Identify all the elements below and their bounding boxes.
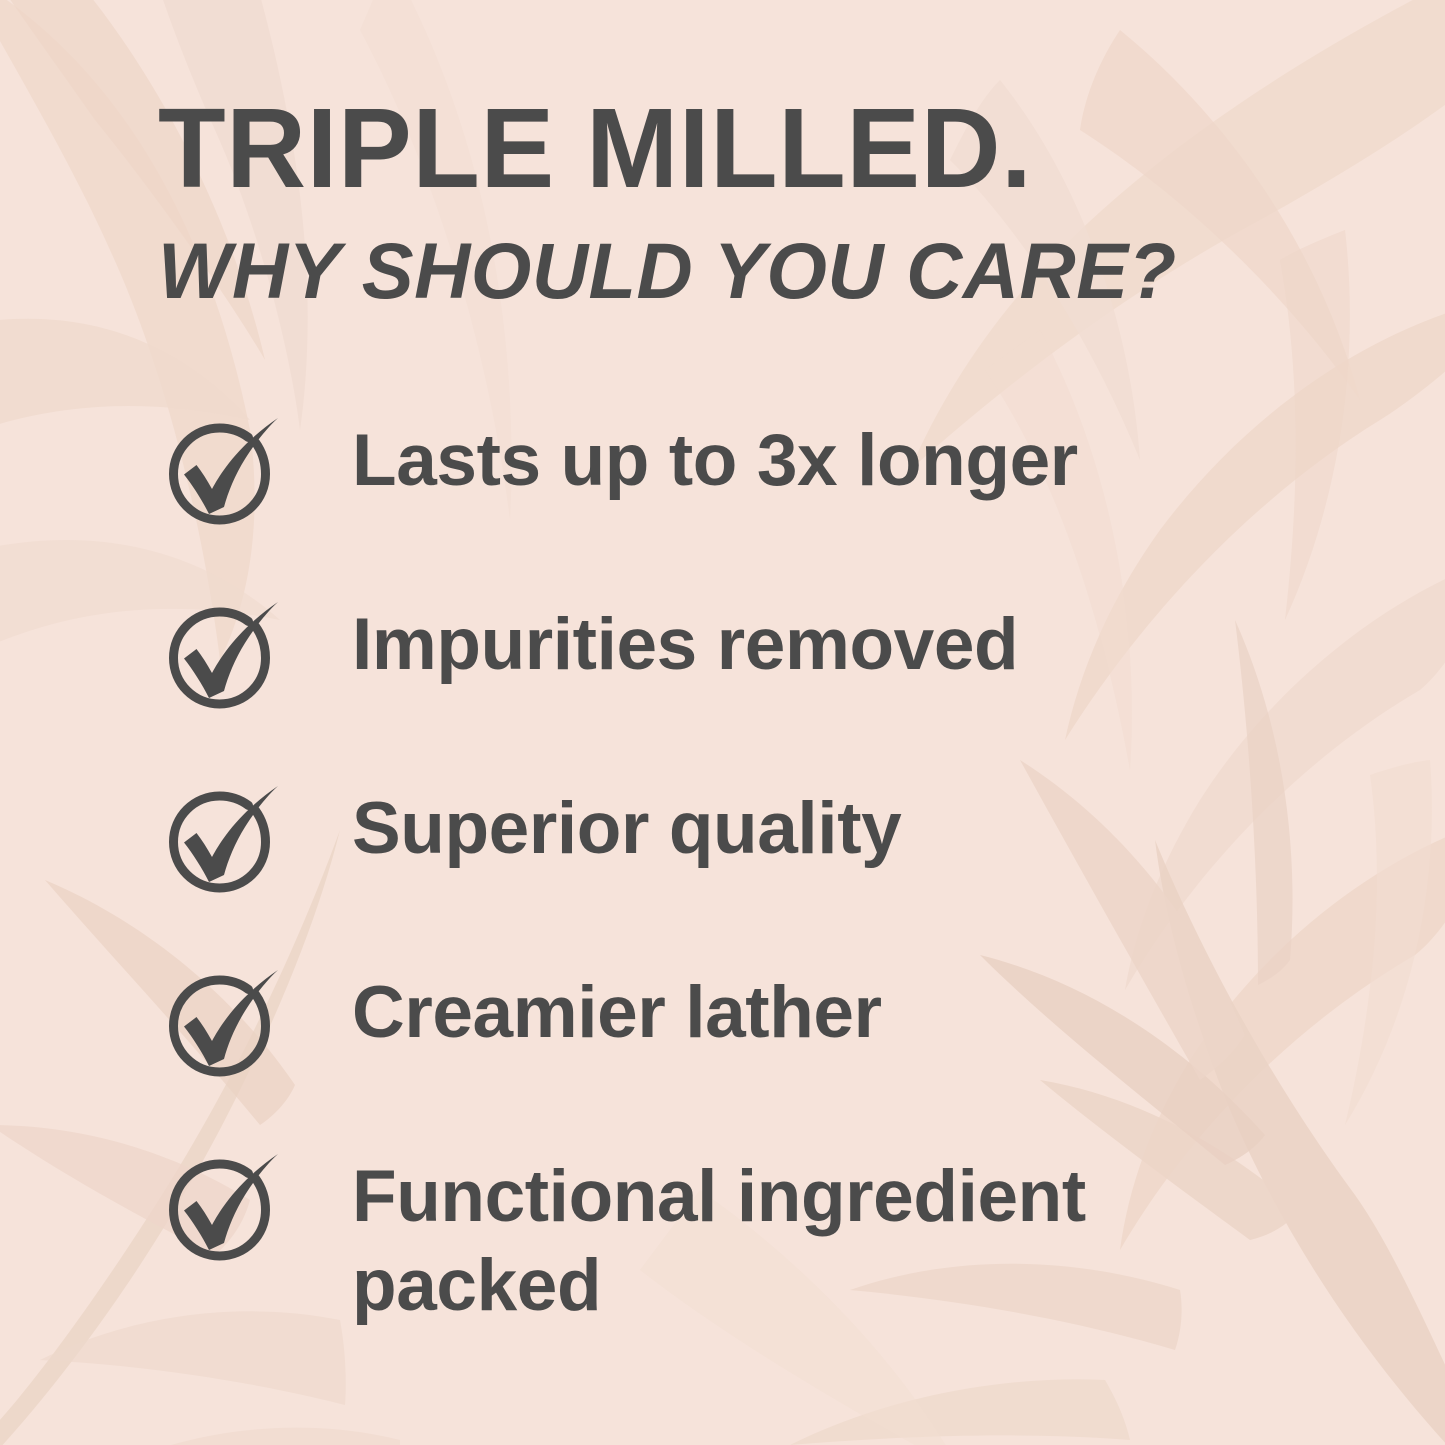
list-item: Impurities removed — [160, 594, 1340, 778]
check-circle-icon — [160, 964, 280, 1084]
check-circle-icon — [160, 412, 280, 532]
list-item: Functional ingredient packed — [160, 1146, 1340, 1330]
check-circle-icon — [160, 1148, 280, 1268]
check-circle-icon — [160, 596, 280, 716]
list-item-label: Functional ingredient packed — [352, 1146, 1340, 1330]
page-subtitle: WHY SHOULD YOU CARE? — [158, 231, 1177, 310]
list-item: Lasts up to 3x longer — [160, 410, 1340, 594]
content-layer: TRIPLE MILLED. WHY SHOULD YOU CARE? Last… — [0, 0, 1445, 1445]
check-circle-icon — [160, 780, 280, 900]
list-item-label: Superior quality — [352, 778, 1340, 873]
benefit-list: Lasts up to 3x longer Impurities removed — [160, 410, 1340, 1330]
page-title: TRIPLE MILLED. — [158, 92, 1032, 205]
list-item: Superior quality — [160, 778, 1340, 962]
list-item-label: Lasts up to 3x longer — [352, 410, 1340, 505]
list-item-label: Creamier lather — [352, 962, 1340, 1057]
list-item: Creamier lather — [160, 962, 1340, 1146]
marketing-infographic: TRIPLE MILLED. WHY SHOULD YOU CARE? Last… — [0, 0, 1445, 1445]
list-item-label: Impurities removed — [352, 594, 1340, 689]
